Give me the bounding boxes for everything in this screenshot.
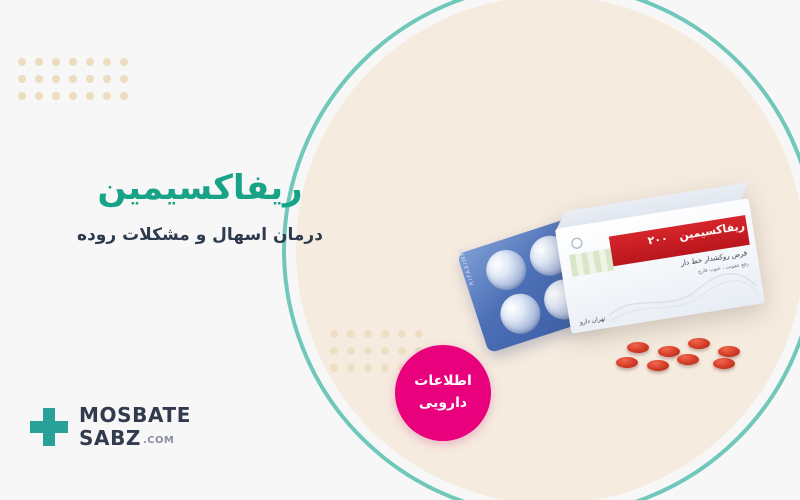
drug-info-badge[interactable]: اطلاعات دارویی [395, 345, 491, 441]
brand-logo[interactable]: MOSBATE SABZ .COM [28, 405, 191, 448]
drug-info-badge-line1: اطلاعات [414, 371, 472, 393]
dot [347, 347, 355, 355]
dot [347, 330, 355, 338]
page-subtitle: درمان اسهال و مشکلات روده [0, 224, 400, 248]
logo-tld: .COM [143, 436, 174, 448]
dot [35, 75, 43, 83]
drug-info-badge-line2: دارویی [419, 393, 467, 415]
dot [381, 364, 389, 372]
tablet [616, 357, 638, 368]
dot [69, 92, 77, 100]
tablet [718, 346, 740, 357]
dot [347, 364, 355, 372]
dot [86, 58, 94, 66]
dot [86, 75, 94, 83]
dot [103, 58, 111, 66]
tablet [677, 354, 699, 365]
logo-line-secondary: SABZ [79, 428, 141, 448]
blister-cell [495, 288, 545, 338]
carton-color-swatches [569, 249, 614, 277]
tablet [688, 338, 710, 349]
dot [120, 92, 128, 100]
dot [18, 58, 26, 66]
dot [103, 92, 111, 100]
dot [52, 92, 60, 100]
carton-manufacturer: تهران دارو [579, 315, 606, 326]
dot [398, 330, 406, 338]
tablet [713, 358, 735, 369]
dot [35, 58, 43, 66]
dot [52, 58, 60, 66]
dot [330, 347, 338, 355]
logo-wordmark: MOSBATE SABZ .COM [79, 405, 191, 448]
carton-wave-graphic [605, 266, 758, 323]
dot [330, 364, 338, 372]
dot [103, 75, 111, 83]
tablet [627, 342, 649, 353]
dot [52, 75, 60, 83]
dot [120, 58, 128, 66]
dot [86, 92, 94, 100]
medicine-carton: ریفاکسیمین ۲۰۰ قرص روکشدار خط دار رفع عف… [555, 198, 765, 333]
tablet [658, 346, 680, 357]
decorative-dot-grid-top-left [18, 58, 128, 100]
medical-cross-icon [28, 406, 70, 448]
dot [35, 92, 43, 100]
dot [398, 347, 406, 355]
dot [18, 92, 26, 100]
promo-banner: RIFAXIMIN ریفاکسیمین ۲۰۰ قرص روکشدار خط … [0, 0, 800, 500]
logo-line-secondary-wrap: SABZ .COM [79, 428, 191, 448]
dot [69, 75, 77, 83]
headline-block: ریفاکسیمین درمان اسهال و مشکلات روده [0, 168, 400, 248]
carton-seal-icon [571, 237, 584, 250]
dot [364, 330, 372, 338]
dot [364, 364, 372, 372]
dot [415, 330, 423, 338]
page-title: ریفاکسیمین [0, 168, 400, 208]
dot [120, 75, 128, 83]
dot [364, 347, 372, 355]
dot [69, 58, 77, 66]
dot [18, 75, 26, 83]
dot [381, 330, 389, 338]
logo-line-primary: MOSBATE [79, 405, 191, 425]
tablet [647, 360, 669, 371]
dot [381, 347, 389, 355]
blister-cell [481, 245, 531, 295]
product-photo: RIFAXIMIN ریفاکسیمین ۲۰۰ قرص روکشدار خط … [470, 205, 760, 375]
dot [330, 330, 338, 338]
